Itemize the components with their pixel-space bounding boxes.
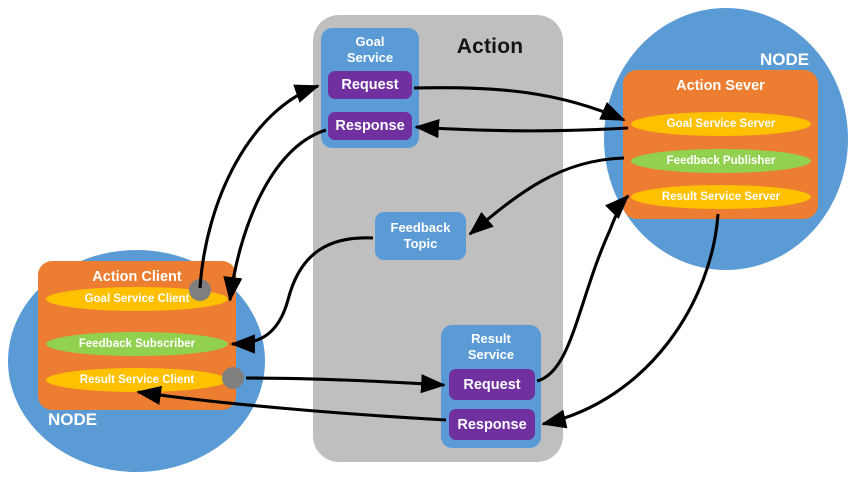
result-client-connector-dot [222, 367, 244, 389]
goal-service-title: Goal Service [321, 34, 419, 66]
feedback-topic-line1: Feedback [391, 220, 451, 235]
goal-service-response-chip[interactable]: Response [328, 112, 412, 140]
goal-service-title-line1: Goal [356, 34, 385, 49]
result-service-request-chip[interactable]: Request [449, 369, 535, 400]
result-service-response-chip[interactable]: Response [449, 409, 535, 440]
feedback-topic-label: Feedback Topic [391, 220, 451, 252]
goal-service-server-interface[interactable]: Goal Service Server [631, 112, 811, 136]
goal-service-request-chip[interactable]: Request [328, 71, 412, 99]
diagram-canvas: Action NODE Action Sever Goal Service Se… [0, 0, 854, 480]
server-node-label: NODE [760, 50, 809, 70]
result-service-server-interface[interactable]: Result Service Server [631, 185, 811, 209]
result-service-client-interface[interactable]: Result Service Client [46, 368, 228, 392]
client-node-label: NODE [48, 410, 97, 430]
goal-service-title-line2: Service [347, 50, 393, 65]
arrow-goal-client-to-request [200, 86, 318, 288]
feedback-topic-line2: Topic [404, 236, 438, 251]
action-panel-title: Action [430, 35, 550, 59]
feedback-subscriber-interface[interactable]: Feedback Subscriber [46, 332, 228, 356]
feedback-publisher-interface[interactable]: Feedback Publisher [631, 149, 811, 173]
arrow-goal-response-to-client [230, 130, 326, 300]
feedback-topic-block[interactable]: Feedback Topic [375, 212, 466, 260]
result-service-title-line1: Result [471, 331, 511, 346]
result-service-title: Result Service [441, 331, 541, 363]
goal-client-connector-dot [189, 279, 211, 301]
action-server-title: Action Sever [623, 78, 818, 94]
result-service-title-line2: Service [468, 347, 514, 362]
